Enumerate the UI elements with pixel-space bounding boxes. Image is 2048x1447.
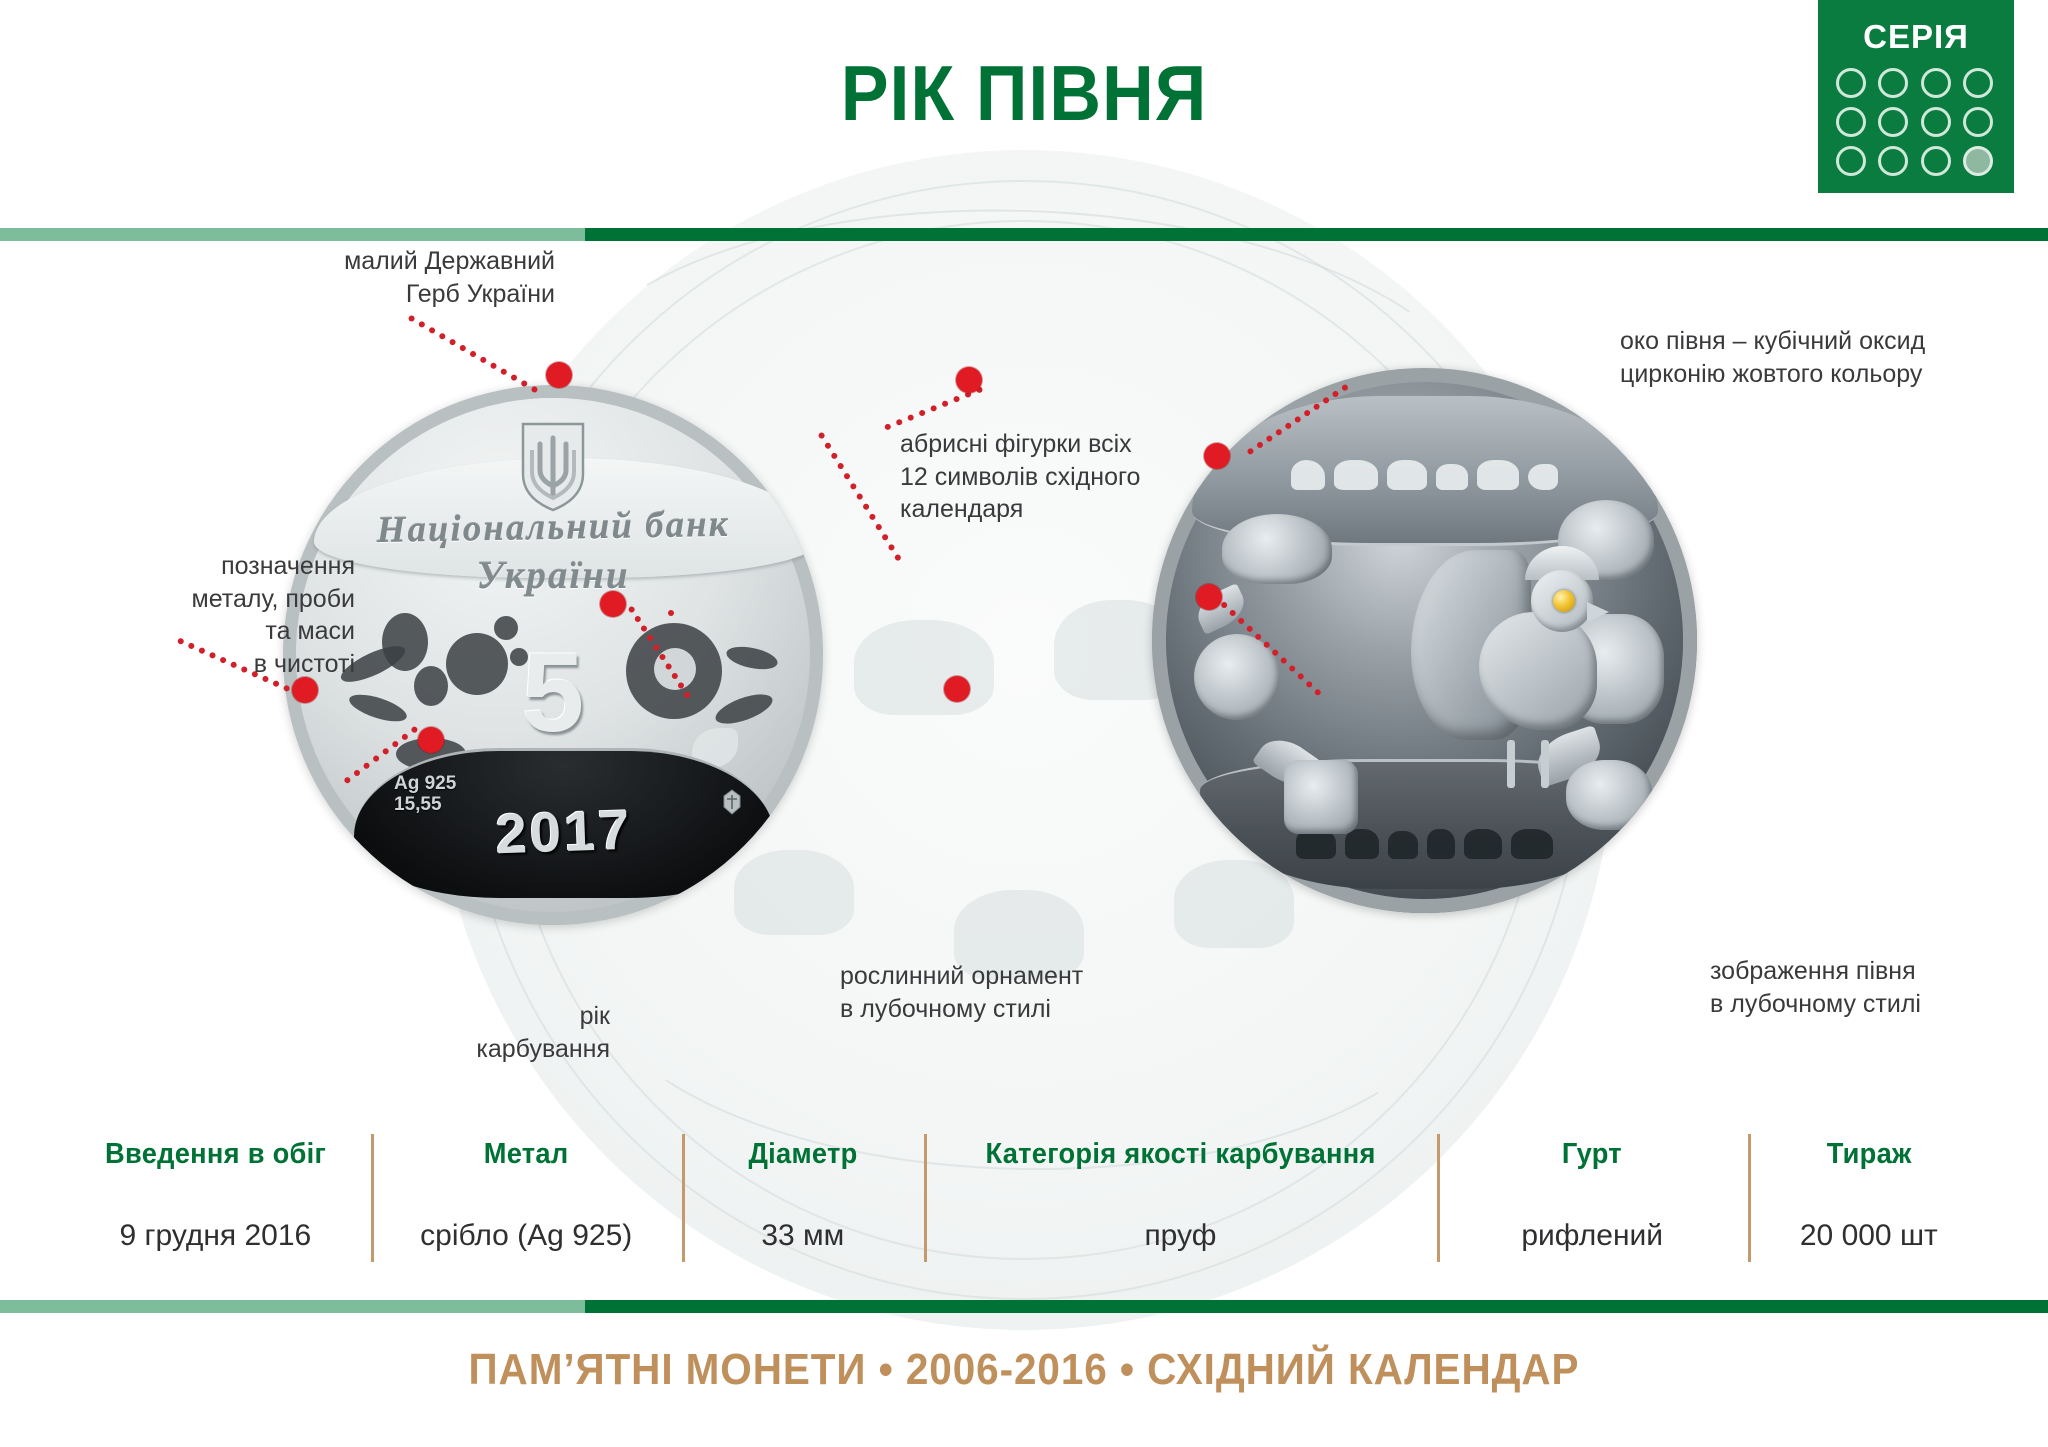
zodiac-symbol-dragon bbox=[1477, 460, 1519, 490]
spec-column-metal: Метал срібло (Ag 925) bbox=[371, 1128, 682, 1278]
annotation-plant-ornament: рослинний орнамент в лубочному стилі bbox=[840, 960, 1180, 1025]
marker-zodiac-top bbox=[956, 367, 982, 393]
spec-table: Введення в обіг 9 грудня 2016 Метал сріб… bbox=[60, 1128, 1990, 1278]
reverse-flower-ornament bbox=[1222, 514, 1332, 584]
spec-value-issue-date: 9 грудня 2016 bbox=[120, 1219, 312, 1253]
infographic-page: РІК ПІВНЯ СЕРІЯ bbox=[0, 0, 2048, 1447]
marker-metal-mark bbox=[292, 677, 318, 703]
series-badge: СЕРІЯ bbox=[1818, 0, 2014, 193]
divider-light-segment bbox=[0, 1300, 585, 1313]
annotation-mint-year: рік карбування bbox=[290, 1000, 610, 1065]
zodiac-symbol-ox bbox=[1334, 460, 1378, 490]
series-dot bbox=[1878, 68, 1908, 98]
page-title: РІК ПІВНЯ bbox=[82, 48, 1966, 139]
series-dot-current bbox=[1963, 146, 1993, 176]
obverse-bank-name-line2: України bbox=[296, 553, 810, 598]
annotation-emblem: малий Державний Герб України bbox=[195, 245, 555, 310]
obverse-mint-year: 2017 bbox=[353, 792, 775, 872]
series-dot bbox=[1963, 107, 1993, 137]
zodiac-silhouettes-top bbox=[1166, 460, 1683, 490]
marker-plant-ornament bbox=[600, 591, 626, 617]
annotation-metal-mark: позначення металу, проби та маси в чисто… bbox=[55, 550, 355, 680]
zodiac-silhouettes-bottom bbox=[1166, 829, 1683, 859]
trident-emblem-icon bbox=[518, 420, 588, 512]
spec-value-edge: рифлений bbox=[1521, 1219, 1663, 1253]
spec-value-mint-quality: пруф bbox=[1144, 1219, 1216, 1253]
series-dot bbox=[1836, 107, 1866, 137]
series-dot bbox=[1921, 146, 1951, 176]
series-dot bbox=[1921, 107, 1951, 137]
series-badge-label: СЕРІЯ bbox=[1818, 18, 2014, 56]
watermark-animal bbox=[1174, 860, 1294, 948]
zodiac-symbol-rat bbox=[1291, 460, 1325, 490]
divider-dark-segment bbox=[585, 1300, 2048, 1313]
spec-header-issue-date: Введення в обіг bbox=[105, 1138, 326, 1171]
divider-top bbox=[0, 228, 2048, 241]
leader-line-zodiac-b bbox=[817, 431, 902, 561]
divider-dark-segment bbox=[585, 228, 2048, 241]
series-dot bbox=[1921, 68, 1951, 98]
spec-value-mintage: 20 000 шт bbox=[1800, 1219, 1938, 1253]
marker-emblem bbox=[546, 362, 572, 388]
spec-header-mint-quality: Категорія якості карбування bbox=[985, 1138, 1375, 1171]
obverse-dark-segment: Ag 925 15,55 2017 bbox=[354, 748, 774, 898]
series-dot bbox=[1878, 107, 1908, 137]
spec-value-diameter: 33 мм bbox=[761, 1219, 844, 1253]
obverse-metal-line1: Ag 925 bbox=[394, 773, 456, 794]
zodiac-symbol-rabbit bbox=[1436, 464, 1468, 490]
rooster-leg bbox=[1507, 740, 1515, 788]
series-dot bbox=[1836, 146, 1866, 176]
spec-column-issue-date: Введення в обіг 9 грудня 2016 bbox=[60, 1128, 371, 1278]
annotation-zodiac-figures: абрисні фігурки всіх 12 символів східног… bbox=[900, 428, 1220, 526]
spec-column-edge: Гурт рифлений bbox=[1437, 1128, 1748, 1278]
mint-mark-icon bbox=[720, 789, 744, 815]
reverse-pinecone-ornament bbox=[1284, 760, 1358, 834]
rooster-eye-zircon-gem bbox=[1553, 590, 1575, 612]
footer-series-caption: ПАМ’ЯТНІ МОНЕТИ • 2006-2016 • СХІДНИЙ КА… bbox=[82, 1345, 1966, 1395]
obverse-ornament-motif bbox=[494, 616, 518, 640]
spec-header-edge: Гурт bbox=[1562, 1138, 1622, 1171]
rooster-leg bbox=[1541, 740, 1549, 788]
leader-line-ornament-stub bbox=[668, 610, 669, 616]
spec-header-mintage: Тираж bbox=[1826, 1138, 1911, 1171]
coin-reverse-field bbox=[1166, 382, 1683, 899]
annotation-rooster-image: зображення півня в лубочному стилі bbox=[1710, 955, 2040, 1020]
divider-light-segment bbox=[0, 228, 585, 241]
coin-reverse bbox=[1152, 368, 1697, 913]
marker-mint-year bbox=[418, 727, 444, 753]
zodiac-symbol-pig bbox=[1511, 829, 1553, 859]
series-dot bbox=[1878, 146, 1908, 176]
series-dot-grid bbox=[1818, 68, 2014, 176]
zodiac-symbol-dog bbox=[1464, 829, 1502, 859]
series-dot bbox=[1836, 68, 1866, 98]
zodiac-symbol-monkey bbox=[1388, 831, 1418, 859]
zodiac-symbol-rooster bbox=[1427, 829, 1455, 859]
obverse-denomination-value: 5 bbox=[296, 643, 810, 744]
spec-column-mint-quality: Категорія якості карбування пруф bbox=[924, 1128, 1437, 1278]
zodiac-symbol-tiger bbox=[1387, 460, 1427, 490]
spec-column-mintage: Тираж 20 000 шт bbox=[1748, 1128, 1990, 1278]
coin-obverse: Національний банк України 5 гривень Ag 9… bbox=[283, 385, 823, 925]
rooster-figure bbox=[1445, 542, 1635, 792]
spec-column-diameter: Діаметр 33 мм bbox=[682, 1128, 924, 1278]
spec-header-metal: Метал bbox=[484, 1138, 569, 1171]
obverse-bank-name-line1: Національний банк bbox=[296, 502, 811, 554]
rooster-beak bbox=[1587, 602, 1609, 622]
marker-zodiac-bottom bbox=[944, 676, 970, 702]
series-dot bbox=[1963, 68, 1993, 98]
zodiac-symbol-goat bbox=[1345, 829, 1379, 859]
spec-value-metal: срібло (Ag 925) bbox=[420, 1219, 632, 1253]
annotation-rooster-eye: око півня – кубічний оксид цирконію жовт… bbox=[1620, 325, 2020, 390]
watermark-animal bbox=[854, 620, 994, 715]
divider-bottom bbox=[0, 1300, 2048, 1313]
marker-rooster-image bbox=[1196, 584, 1222, 610]
spec-header-diameter: Діаметр bbox=[748, 1138, 857, 1171]
coin-obverse-field: Національний банк України 5 гривень Ag 9… bbox=[296, 398, 810, 912]
marker-rooster-eye bbox=[1204, 443, 1230, 469]
zodiac-symbol-snake bbox=[1528, 464, 1558, 490]
leader-line-emblem bbox=[408, 314, 539, 393]
